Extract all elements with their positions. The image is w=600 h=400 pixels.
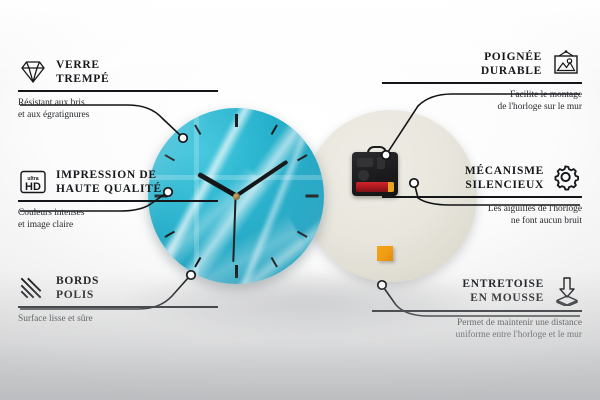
callout-divider	[18, 200, 218, 202]
callout-entretoise-en-mousse[interactable]: ENTRETOISE EN MOUSSE Permet de maintenir…	[372, 276, 582, 341]
clock-tick	[305, 195, 318, 198]
callout-divider	[18, 306, 218, 308]
callout-header: MÉCANISME SILENCIEUX	[382, 164, 582, 192]
gear-icon	[552, 164, 582, 192]
callout-bords-polis[interactable]: BORDS POLIS Surface lisse et sûre	[18, 274, 218, 325]
polished-edges-icon	[18, 275, 48, 301]
callout-divider	[18, 90, 218, 92]
callout-divider	[382, 196, 582, 198]
clock-tick	[235, 265, 238, 278]
callout-header: ENTRETOISE EN MOUSSE	[372, 276, 582, 306]
callout-desc-line1: Facilite le montage	[382, 89, 582, 101]
mechanism-dial	[358, 170, 369, 181]
mechanism-detail	[357, 158, 373, 167]
callout-header: BORDS POLIS	[18, 274, 218, 302]
callout-mecanisme-silencieux[interactable]: MÉCANISME SILENCIEUX Les aiguilles de l'…	[382, 164, 582, 227]
callout-desc-line1: Permet de maintenir une distance	[372, 317, 582, 329]
callout-title: IMPRESSION DE HAUTE QUALITÉ	[56, 168, 162, 196]
callout-desc-line2: ne font aucun bruit	[382, 215, 582, 227]
callout-desc-line2: de l'horloge sur le mur	[382, 101, 582, 113]
clock-tick	[164, 154, 175, 161]
clock-tick	[271, 124, 278, 135]
callout-title: BORDS POLIS	[56, 274, 99, 302]
callout-title: VERRE TREMPÉ	[56, 58, 109, 86]
callout-verre-trempe[interactable]: VERRE TREMPÉ Résistant aux bris et aux é…	[18, 58, 218, 121]
svg-text:HD: HD	[25, 181, 41, 193]
diamond-icon	[18, 59, 48, 85]
callout-impression-haute-qualite[interactable]: ultra HD IMPRESSION DE HAUTE QUALITÉ Cou…	[18, 168, 218, 231]
infographic-canvas: VERRE TREMPÉ Résistant aux bris et aux é…	[0, 0, 600, 400]
clock-tick	[235, 114, 238, 127]
arrow-onto-foam-pad-icon	[552, 276, 582, 306]
callout-poignee-durable[interactable]: POIGNÉE DURABLE Facilite le montage de l…	[382, 50, 582, 113]
ultra-hd-icon: ultra HD	[18, 169, 48, 195]
callout-title: ENTRETOISE EN MOUSSE	[462, 277, 544, 305]
callout-desc-line1: Surface lisse et sûre	[18, 313, 218, 325]
callout-desc-line2: et image claire	[18, 219, 218, 231]
callout-desc-line2: et aux égratignures	[18, 109, 218, 121]
callout-title: POIGNÉE DURABLE	[481, 50, 542, 78]
callout-divider	[382, 82, 582, 84]
clock-center-cap	[233, 193, 240, 200]
callout-desc-line1: Les aiguilles de l'horloge	[382, 203, 582, 215]
callout-header: POIGNÉE DURABLE	[382, 50, 582, 78]
callout-title: MÉCANISME SILENCIEUX	[465, 164, 544, 192]
callout-desc-line2: uniforme entre l'horloge et le mur	[372, 329, 582, 341]
callout-header: VERRE TREMPÉ	[18, 58, 218, 86]
callout-divider	[372, 310, 582, 312]
foam-spacer	[377, 246, 393, 261]
callout-desc-line1: Couleurs intenses	[18, 207, 218, 219]
callout-desc-line1: Résistant aux bris	[18, 97, 218, 109]
callout-header: ultra HD IMPRESSION DE HAUTE QUALITÉ	[18, 168, 218, 196]
hanging-picture-frame-icon	[550, 50, 582, 78]
